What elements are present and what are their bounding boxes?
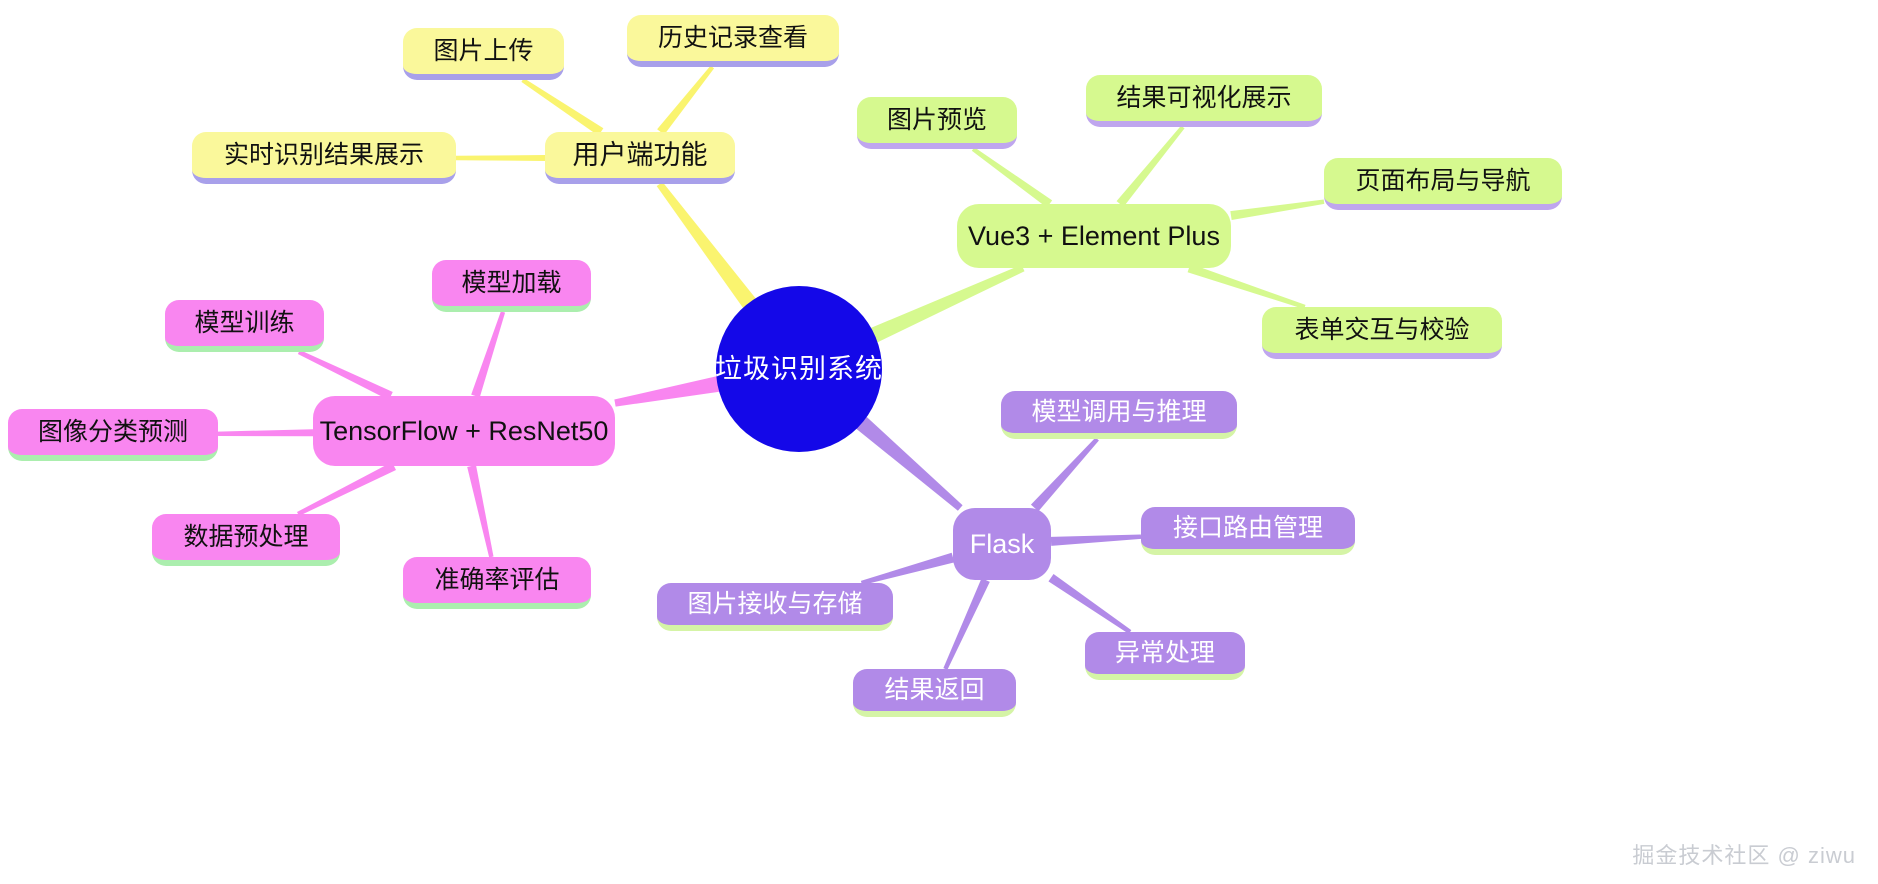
mindmap-edge-flask-return: [943, 578, 989, 670]
node-label-user-features: 用户端功能: [573, 142, 708, 169]
node-label-form-validation: 表单交互与校验: [1294, 318, 1469, 343]
mindmap-node-form-validation[interactable]: 表单交互与校验: [1262, 307, 1502, 359]
mindmap-node-user-features[interactable]: 用户端功能: [545, 132, 735, 184]
mindmap-node-accuracy-eval[interactable]: 准确率评估: [403, 557, 591, 609]
mindmap-node-image-classify[interactable]: 图像分类预测: [8, 409, 218, 461]
mindmap-node-realtime-result[interactable]: 实时识别结果展示: [192, 132, 456, 184]
node-label-result-return: 结果返回: [884, 678, 984, 703]
mindmap-edge-root-model: [614, 376, 722, 407]
node-label-result-visual: 结果可视化展示: [1116, 86, 1291, 111]
mindmap-edge-root-backend: [854, 415, 963, 511]
mindmap-node-flask[interactable]: Flask: [953, 508, 1051, 580]
mindmap-node-result-visual[interactable]: 结果可视化展示: [1086, 75, 1322, 127]
mindmap-node-tensorflow-resnet50[interactable]: TensorFlow + ResNet50: [313, 396, 615, 466]
node-label-model-invoke: 模型调用与推理: [1031, 400, 1206, 425]
node-label-image-classify: 图像分类预测: [38, 420, 188, 445]
node-label-accuracy-eval: 准确率评估: [434, 568, 559, 593]
mindmap-edge-tf-accuracy: [467, 465, 493, 557]
mindmap-edge-vue-visual: [1117, 126, 1185, 207]
watermark: 掘金技术社区 @ ziwu: [1632, 838, 1856, 870]
node-label-image-receive-store: 图片接收与存储: [687, 592, 862, 617]
mindmap-edge-flask-exception: [1048, 574, 1131, 634]
node-label-data-preprocess: 数据预处理: [183, 525, 308, 550]
mindmap-edge-flask-routing: [1051, 534, 1141, 545]
mindmap-node-exception-handling[interactable]: 异常处理: [1085, 632, 1245, 680]
mindmap-edge-tf-classify: [218, 429, 313, 436]
mindmap-edge-root-frontend: [868, 265, 1025, 344]
mindmap-edge-user-history: [657, 66, 714, 135]
mindmap-node-data-preprocess[interactable]: 数据预处理: [152, 514, 340, 566]
node-label-page-layout-nav: 页面布局与导航: [1355, 169, 1530, 194]
node-label-exception-handling: 异常处理: [1115, 641, 1215, 666]
mindmap-node-api-routing[interactable]: 接口路由管理: [1141, 507, 1355, 555]
mindmap-edge-tf-load: [471, 311, 505, 397]
mindmap-edge-root-user: [657, 182, 758, 311]
mindmap-edge-tf-preprocess: [297, 462, 396, 516]
mindmap-node-result-return[interactable]: 结果返回: [853, 669, 1016, 717]
mindmap-edge-user-upload: [521, 78, 603, 136]
mindmap-node-model-invoke[interactable]: 模型调用与推理: [1001, 391, 1237, 439]
mindmap-node-page-layout-nav[interactable]: 页面布局与导航: [1324, 158, 1562, 210]
node-label-history-view: 历史记录查看: [658, 26, 808, 51]
mindmap-node-model-load[interactable]: 模型加载: [432, 260, 591, 312]
node-label-flask: Flask: [970, 531, 1035, 558]
mindmap-edge-flask-receive: [861, 553, 954, 585]
mindmap-canvas: 垃圾识别系统用户端功能图片上传历史记录查看实时识别结果展示Vue3 + Elem…: [0, 0, 1878, 884]
mindmap-node-model-train[interactable]: 模型训练: [165, 300, 324, 352]
mindmap-edge-user-realtime: [456, 155, 545, 161]
node-label-api-routing: 接口路由管理: [1173, 516, 1323, 541]
mindmap-edge-flask-invoke: [1031, 437, 1099, 511]
mindmap-edge-vue-preview: [972, 147, 1052, 207]
node-label-vue3-element-plus: Vue3 + Element Plus: [968, 223, 1220, 250]
mindmap-node-image-receive-store[interactable]: 图片接收与存储: [657, 583, 893, 631]
node-label-model-train: 模型训练: [194, 311, 294, 336]
mindmap-edge-vue-layout: [1230, 200, 1324, 220]
mindmap-node-image-upload[interactable]: 图片上传: [403, 28, 564, 80]
node-label-realtime-result: 实时识别结果展示: [224, 143, 424, 168]
mindmap-edge-vue-form: [1188, 264, 1306, 309]
mindmap-edge-tf-train: [298, 350, 393, 400]
mindmap-node-vue3-element-plus[interactable]: Vue3 + Element Plus: [957, 204, 1231, 268]
node-label-image-preview: 图片预览: [887, 108, 987, 133]
mindmap-node-history-view[interactable]: 历史记录查看: [627, 15, 839, 67]
node-label-tensorflow-resnet50: TensorFlow + ResNet50: [320, 418, 609, 445]
mindmap-node-root[interactable]: 垃圾识别系统: [716, 286, 882, 452]
node-label-image-upload: 图片上传: [433, 39, 533, 64]
node-label-model-load: 模型加载: [461, 271, 561, 296]
node-label-root: 垃圾识别系统: [715, 356, 883, 383]
mindmap-node-image-preview[interactable]: 图片预览: [857, 97, 1017, 149]
